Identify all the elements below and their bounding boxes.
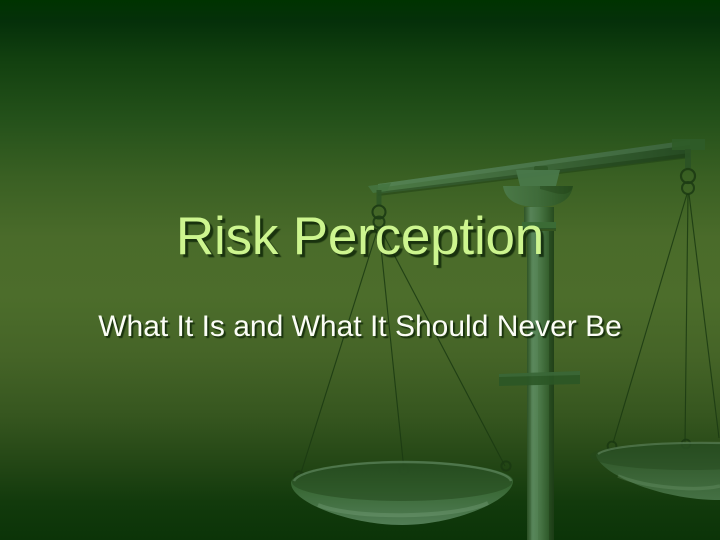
slide-text-layer: Risk Perception What It Is and What It S… — [0, 0, 720, 540]
page-title: Risk Perception — [0, 206, 720, 268]
slide-canvas: Risk Perception What It Is and What It S… — [0, 0, 720, 540]
slide-subtitle: What It Is and What It Should Never Be — [90, 308, 630, 346]
